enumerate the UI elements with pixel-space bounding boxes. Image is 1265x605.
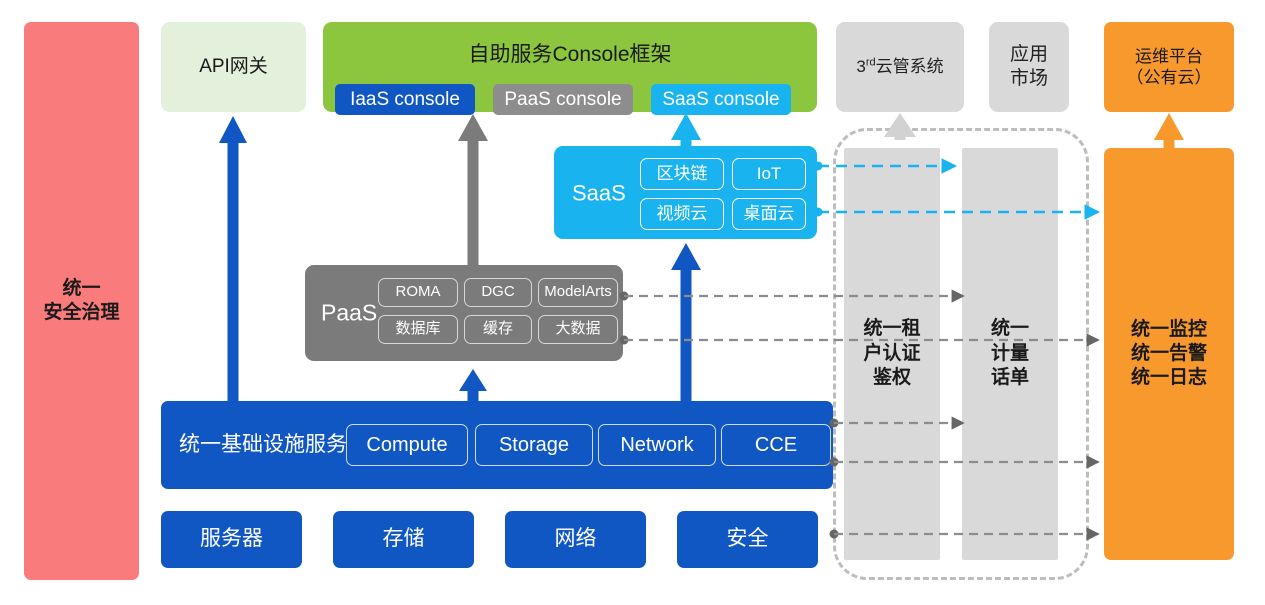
chip-saas-console-label: SaaS console [662, 88, 779, 112]
resource-box-security[interactable]: 安全 [677, 511, 818, 568]
api-gateway-box[interactable]: API网关 [161, 22, 306, 112]
security-pillar-line1: 统一 [62, 277, 100, 301]
security-pillar: 统一 安全治理 [24, 22, 139, 580]
security-pillar-line2: 安全治理 [43, 301, 119, 325]
paas-item-roma[interactable]: ROMA [378, 278, 458, 307]
paas-item-dgc[interactable]: DGC [464, 278, 532, 307]
infra-item-compute[interactable]: Compute [346, 424, 468, 466]
resource-box-network[interactable]: 网络 [505, 511, 646, 568]
unified-tenant-auth-line2: 户认证 [863, 342, 920, 367]
saas-panel: SaaS 区块链 IoT 视频云 桌面云 [554, 146, 817, 239]
architecture-diagram: 统一 安全治理 API网关 自助服务Console框架 IaaS console… [0, 0, 1265, 605]
arrow-paas-to-console [458, 114, 488, 265]
paas-item-cache[interactable]: 缓存 [464, 315, 532, 344]
third-party-cloud-box[interactable]: 3rd云管系统 [836, 22, 964, 112]
ops-platform-top-box[interactable]: 运维平台 （公有云） [1104, 22, 1234, 112]
resource-box-server-label: 服务器 [200, 526, 263, 552]
resource-box-storage-label: 存储 [383, 526, 425, 552]
saas-item-blockchain[interactable]: 区块链 [640, 158, 724, 190]
infrastructure-label: 统一基础设施服务 [179, 432, 347, 458]
unified-metering-line1: 统一 [991, 317, 1029, 342]
app-market-line2: 市场 [1010, 67, 1048, 91]
resource-box-server[interactable]: 服务器 [161, 511, 302, 568]
unified-metering-line2: 计量 [991, 342, 1029, 367]
paas-item-modelarts[interactable]: ModelArts [538, 278, 618, 307]
infra-item-network[interactable]: Network [598, 424, 716, 466]
ops-platform-line3: 统一日志 [1131, 366, 1207, 390]
unified-metering-line3: 话单 [991, 366, 1029, 391]
chip-iaas-console[interactable]: IaaS console [335, 84, 475, 115]
paas-item-database[interactable]: 数据库 [378, 315, 458, 344]
unified-tenant-auth-column[interactable]: 统一租 户认证 鉴权 [844, 148, 940, 560]
infra-item-storage[interactable]: Storage [475, 424, 593, 466]
ops-platform-line2: 统一告警 [1131, 342, 1207, 366]
app-market-line1: 应用 [1010, 43, 1048, 67]
saas-item-videocloud[interactable]: 视频云 [640, 198, 724, 230]
arrow-infra-to-paas [459, 369, 487, 401]
arrow-opscolumn-to-opstop [1154, 113, 1184, 148]
ops-platform-top-line2: （公有云） [1127, 67, 1212, 88]
ops-platform-column[interactable]: 统一监控 统一告警 统一日志 [1104, 148, 1234, 560]
chip-paas-console[interactable]: PaaS console [493, 84, 633, 115]
resource-box-security-label: 安全 [727, 526, 769, 552]
saas-item-desktopcloud[interactable]: 桌面云 [732, 198, 806, 230]
api-gateway-label: API网关 [199, 55, 268, 79]
paas-panel-label: PaaS [321, 299, 377, 328]
third-party-cloud-label: 3rd云管系统 [856, 56, 943, 77]
infra-item-cce[interactable]: CCE [721, 424, 831, 466]
paas-panel: PaaS ROMA DGC ModelArts 数据库 缓存 大数据 [305, 265, 623, 361]
console-frame-title: 自助服务Console框架 [323, 42, 817, 68]
chip-iaas-console-label: IaaS console [350, 88, 460, 112]
arrow-infra-to-saas [671, 243, 701, 401]
saas-item-iot[interactable]: IoT [732, 158, 806, 190]
unified-metering-column[interactable]: 统一 计量 话单 [962, 148, 1058, 560]
console-frame: 自助服务Console框架 IaaS console PaaS console … [323, 22, 817, 112]
unified-tenant-auth-line3: 鉴权 [873, 366, 911, 391]
arrow-infra-to-apigateway [219, 116, 247, 401]
arrow-saas-to-console [671, 113, 701, 146]
ops-platform-top-line1: 运维平台 [1135, 46, 1203, 67]
ops-platform-line1: 统一监控 [1131, 318, 1207, 342]
chip-saas-console[interactable]: SaaS console [651, 84, 791, 115]
infrastructure-bar: 统一基础设施服务 Compute Storage Network CCE [161, 401, 833, 489]
resource-box-network-label: 网络 [555, 526, 597, 552]
unified-tenant-auth-line1: 统一租 [863, 317, 920, 342]
resource-box-storage[interactable]: 存储 [333, 511, 474, 568]
paas-item-bigdata[interactable]: 大数据 [538, 315, 618, 344]
chip-paas-console-label: PaaS console [504, 88, 621, 112]
app-market-box[interactable]: 应用 市场 [989, 22, 1069, 112]
saas-panel-label: SaaS [572, 179, 626, 207]
